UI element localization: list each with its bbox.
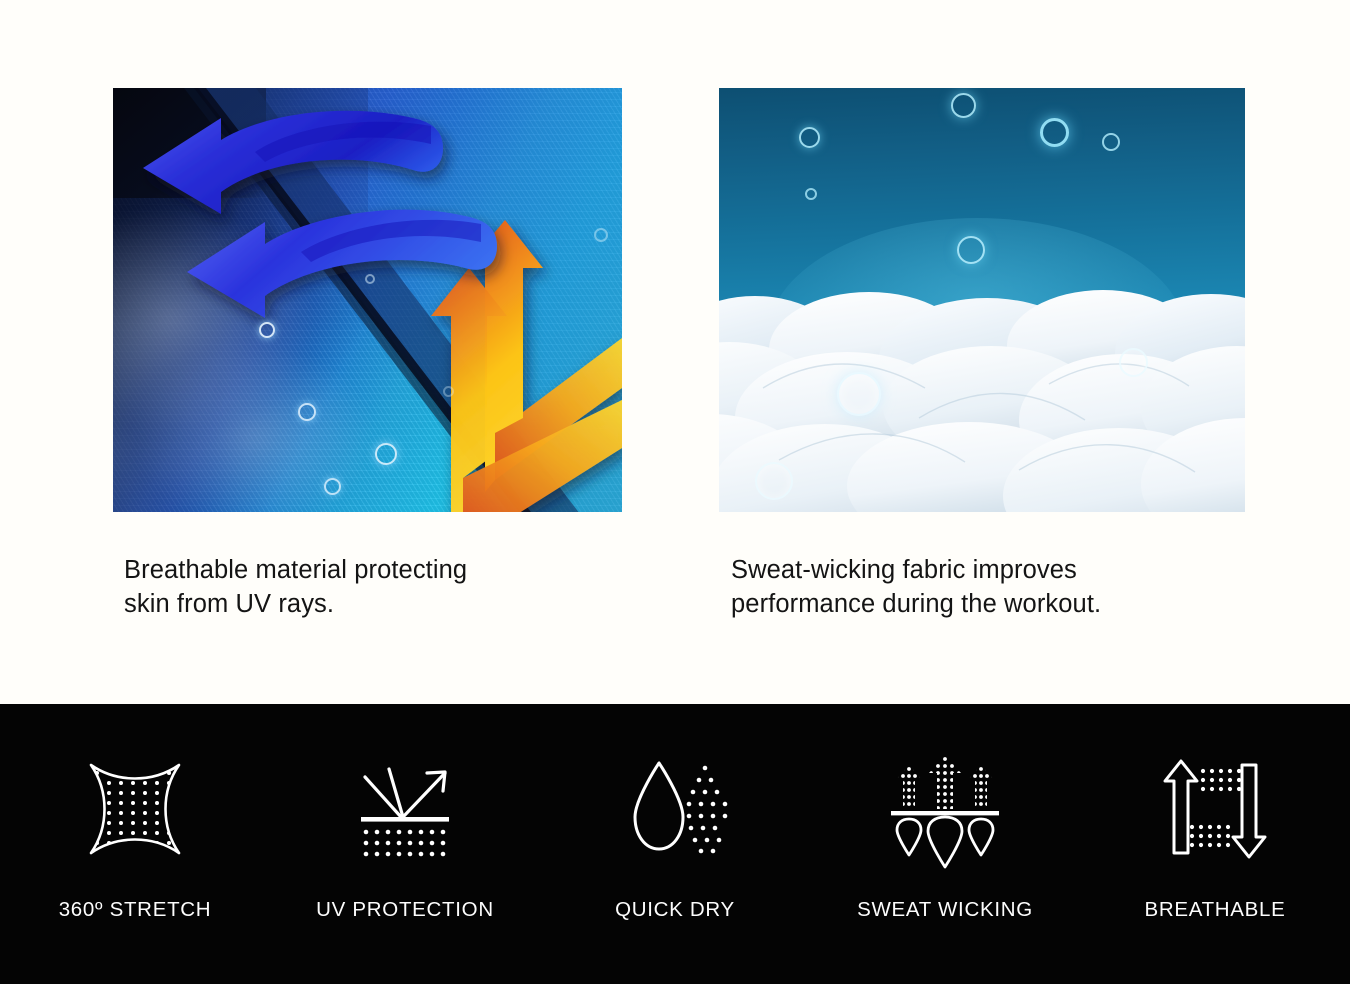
feature-360-stretch: 360º STRETCH — [0, 704, 270, 984]
bubble — [1119, 348, 1148, 377]
uv-reflect-icon — [342, 750, 468, 868]
product-feature-panels: Breathable material protecting skin from… — [0, 0, 1350, 704]
bubble — [443, 386, 454, 397]
feature-quick-dry: QUICK DRY — [540, 704, 810, 984]
bubble — [799, 127, 820, 148]
uv-protection-caption: Breathable material protecting skin from… — [124, 553, 624, 621]
feature-sweat-wicking: SWEAT WICKING — [810, 704, 1080, 984]
uv-protection-image — [113, 88, 622, 512]
bubble — [957, 236, 985, 264]
cloud-mounds-illustration — [719, 88, 1245, 512]
sweat-arrows-droplets-icon — [882, 750, 1008, 868]
feature-label: UV PROTECTION — [316, 898, 494, 922]
bubble — [324, 478, 341, 495]
uv-arrows-illustration — [113, 88, 622, 512]
bubble — [805, 188, 817, 200]
feature-label: QUICK DRY — [615, 898, 735, 922]
bubble — [298, 403, 316, 421]
bubble — [365, 274, 375, 284]
stretch-grid-icon — [72, 750, 198, 868]
feature-uv-protection: UV PROTECTION — [270, 704, 540, 984]
bubble — [1102, 133, 1120, 151]
bubble — [1040, 118, 1069, 147]
feature-label: BREATHABLE — [1144, 898, 1285, 922]
bubble — [837, 372, 881, 416]
water-droplet-icon — [612, 750, 738, 868]
bubble — [755, 462, 793, 500]
bubble — [951, 93, 976, 118]
feature-label: 360º STRETCH — [59, 898, 212, 922]
feature-label: SWEAT WICKING — [857, 898, 1033, 922]
air-circulation-arrows-icon — [1152, 750, 1278, 868]
bubble — [259, 322, 275, 338]
sweat-wicking-caption: Sweat-wicking fabric improves performanc… — [731, 553, 1251, 621]
sweat-wicking-image — [719, 88, 1245, 512]
uv-protection-panel — [113, 88, 622, 512]
feature-icon-bar: 360º STRETCH — [0, 704, 1350, 984]
bubble — [594, 228, 608, 242]
bubble — [375, 443, 397, 465]
feature-breathable: BREATHABLE — [1080, 704, 1350, 984]
sweat-wicking-panel — [719, 88, 1245, 512]
